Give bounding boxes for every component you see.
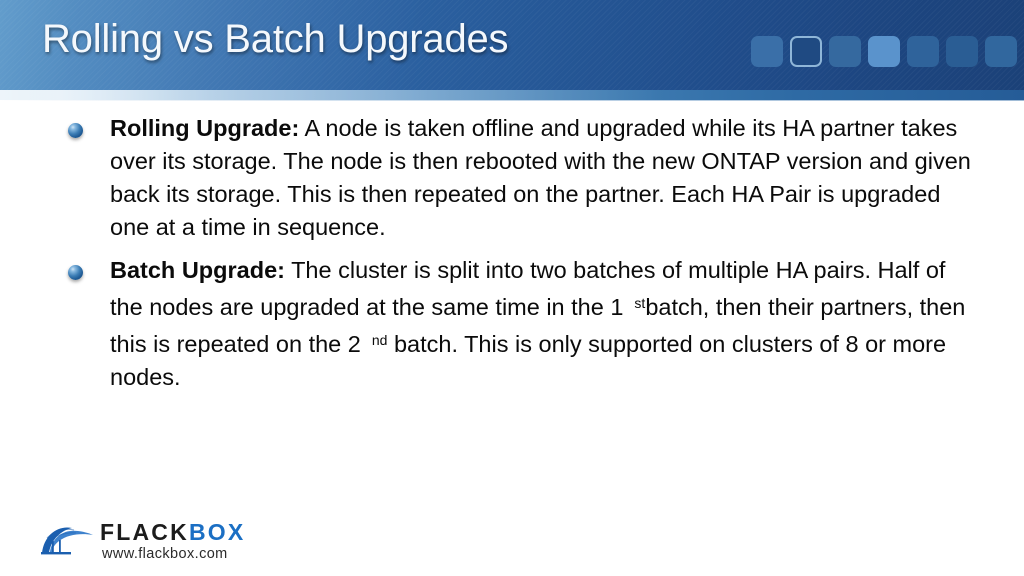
header-underband-fade — [0, 90, 660, 100]
bullet-text-rolling-upgrade: Rolling Upgrade: A node is taken offline… — [110, 112, 972, 244]
page-title: Rolling vs Batch Upgrades — [42, 17, 508, 62]
logo-word-flack: FLACK — [100, 519, 189, 545]
ordinal-superscript-nd: nd — [372, 332, 388, 348]
slide-header-banner: Rolling vs Batch Upgrades — [0, 0, 1024, 90]
bullet-item-rolling-upgrade: Rolling Upgrade: A node is taken offline… — [0, 112, 1024, 244]
bullet-lead-batch-upgrade: Batch Upgrade: — [110, 257, 285, 283]
bullet-orb-icon — [68, 123, 83, 138]
bullet-text-batch-upgrade: Batch Upgrade: The cluster is split into… — [110, 254, 972, 394]
header-square-7 — [985, 36, 1017, 67]
logo-word-box: BOX — [189, 519, 245, 545]
header-square-3 — [829, 36, 861, 67]
bullet-orb-icon — [68, 265, 83, 280]
ordinal-superscript-st: st — [634, 295, 645, 311]
header-square-1 — [751, 36, 783, 67]
logo-wordmark: FLACKBOX — [100, 521, 245, 544]
bridge-logo-icon — [38, 519, 94, 561]
slide-content: Rolling Upgrade: A node is taken offline… — [0, 112, 1024, 404]
header-square-6 — [946, 36, 978, 67]
bullet-item-batch-upgrade: Batch Upgrade: The cluster is split into… — [0, 254, 1024, 394]
header-hairline-divider — [0, 100, 1024, 101]
logo-url-text: www.flackbox.com — [102, 546, 228, 562]
header-square-5 — [907, 36, 939, 67]
header-square-4 — [868, 36, 900, 67]
header-square-2 — [790, 36, 822, 67]
header-decorative-squares — [751, 36, 1017, 67]
bullet-lead-rolling-upgrade: Rolling Upgrade: — [110, 115, 299, 141]
flackbox-logo: FLACKBOX www.flackbox.com — [38, 515, 238, 567]
